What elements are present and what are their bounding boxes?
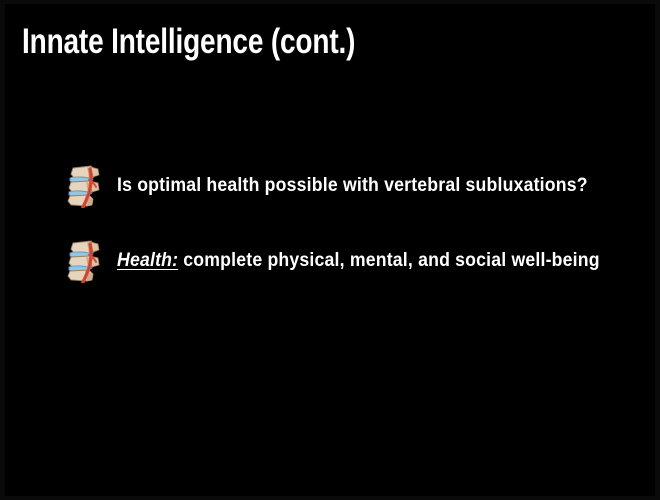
page-title: Innate Intelligence (cont.) — [22, 23, 355, 61]
list-item-rest: complete physical, mental, and social we… — [178, 250, 600, 271]
vertebra-bullet-icon — [65, 164, 101, 208]
vertebra-bullet-icon — [65, 239, 101, 283]
list-item: Is optimal health possible with vertebra… — [65, 162, 645, 210]
slide-container: Innate Intelligence (cont.) — [0, 0, 660, 500]
list-item-emphasis: Health: — [117, 250, 178, 271]
list-item-label: Is optimal health possible with vertebra… — [117, 175, 588, 197]
slide-surface: Innate Intelligence (cont.) — [5, 4, 655, 496]
list-item-label: Health: complete physical, mental, and s… — [117, 250, 600, 272]
bullet-list: Is optimal health possible with vertebra… — [65, 162, 645, 312]
list-item: Health: complete physical, mental, and s… — [65, 237, 645, 285]
